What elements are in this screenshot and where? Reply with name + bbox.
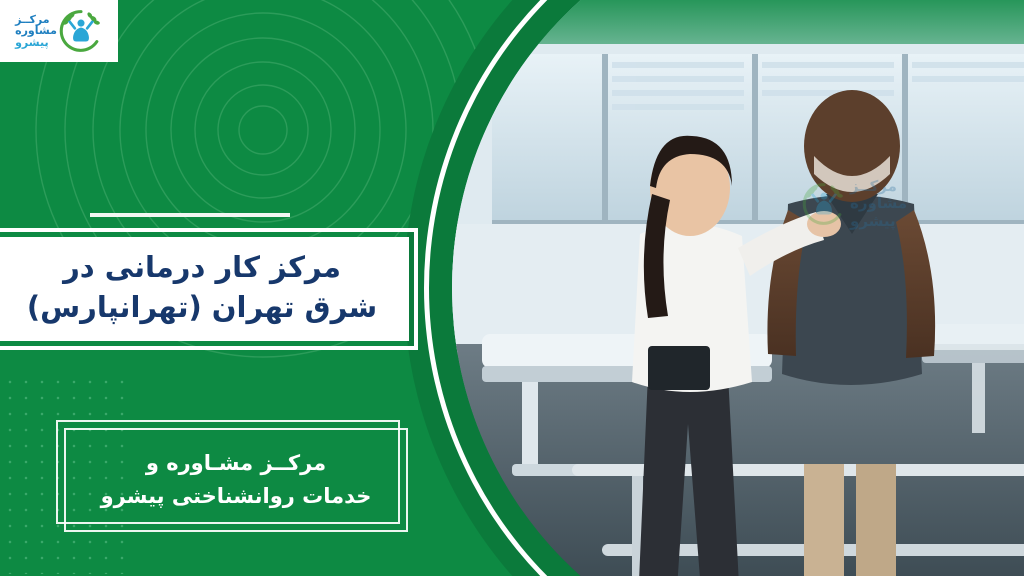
logo-word-pishro: پیشرو [15, 37, 49, 49]
subtitle-block: مرکــز مشـاوره و خدمات روانشناختی پیشرو [64, 428, 408, 532]
page-title: مرکز کار درمانی در شرق تهران (تهرانپارس) [0, 228, 418, 350]
title-divider-rule [90, 213, 290, 217]
pishro-counseling-center-logo[interactable]: مرکــز مشاوره پیشرو [0, 0, 118, 62]
page-title-line-1: مرکز کار درمانی در [63, 247, 341, 287]
subtitle-line-2: خدمات روانشناختی پیشرو [101, 480, 372, 513]
subtitle-line-1: مرکــز مشـاوره و [146, 447, 326, 480]
page-title-line-2: شرق تهران (تهرانپارس) [27, 287, 377, 327]
person-with-leaves-circle-icon [59, 9, 103, 53]
physical-therapy-session-photo: مرکــز مشاوره پیشرو [452, 0, 1024, 576]
banner-canvas: مرکــز مشاوره پیشرو مرکــز مشاوره پیشرو [0, 0, 1024, 576]
